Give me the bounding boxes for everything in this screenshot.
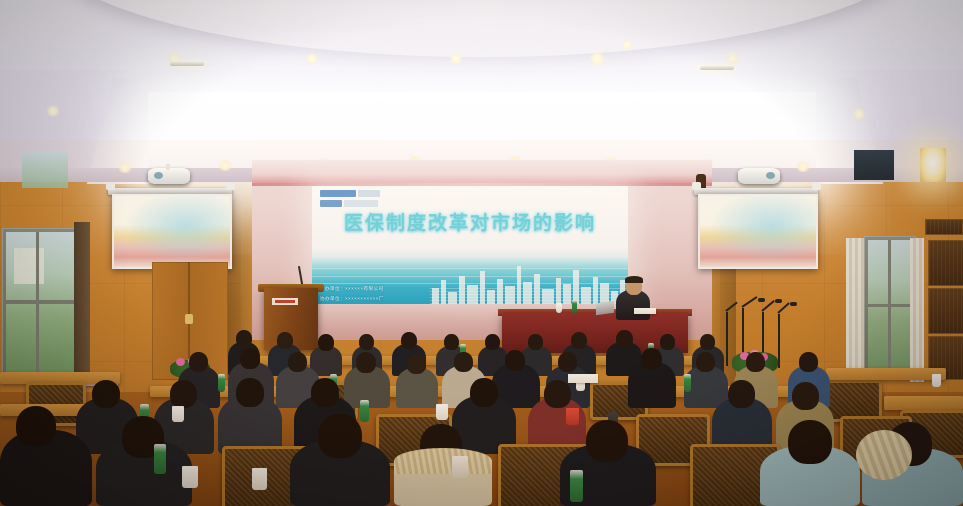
attendee — [396, 368, 438, 408]
laptop-icon — [596, 301, 614, 316]
attendee-head — [311, 378, 339, 407]
screen-bracket — [106, 182, 115, 190]
attendee-head — [356, 352, 376, 373]
screen-bracket — [812, 182, 821, 190]
fur-collar — [856, 430, 912, 480]
attendee-head — [616, 330, 633, 348]
slide-skyline-reflection — [430, 286, 626, 304]
cup — [932, 374, 941, 387]
attendee-head — [485, 334, 500, 350]
right-projection-screen — [698, 194, 818, 269]
microphone-stand — [778, 314, 780, 368]
cup — [172, 406, 184, 422]
slide-subtitle-line-2: 协办单位：×××××××××××厂 — [320, 296, 384, 302]
flower — [176, 358, 185, 366]
attendee-head — [505, 350, 525, 371]
attendee-head — [236, 330, 252, 347]
downlight-icon — [590, 52, 604, 66]
attendee-head — [544, 380, 571, 408]
attendee-head — [696, 352, 715, 372]
downlight-icon — [118, 162, 132, 173]
bottle — [684, 374, 691, 392]
left-projection-screen — [112, 194, 232, 269]
cup — [566, 408, 579, 425]
window-view-building — [14, 248, 44, 284]
downlight-icon — [47, 105, 59, 117]
speaker-hair — [625, 276, 643, 283]
screen-bracket — [226, 182, 235, 190]
attendee-head — [454, 352, 473, 372]
attendee-head — [799, 352, 818, 372]
attendee-head — [700, 334, 715, 350]
slide-subtitle-line-1: 主办单位：××××××有限公司 — [320, 286, 383, 292]
conference-hall-photo: 医保制度改革对市场的影响 主办单位：××××××有限公司 协办单位：××××××… — [0, 0, 963, 506]
cup — [452, 456, 468, 478]
downlight-icon — [306, 53, 318, 65]
slide-logo-bar — [358, 190, 380, 197]
window-mullion — [36, 232, 39, 372]
attendee-head — [407, 354, 426, 374]
attendee-head — [318, 414, 362, 458]
slide-title: 医保制度改革对市场的影响 — [312, 206, 628, 236]
microphone-stand — [726, 312, 728, 366]
attendee-head — [528, 334, 543, 350]
documents — [634, 308, 656, 314]
acoustic-panel — [928, 288, 963, 334]
upper-dark-panel — [854, 150, 894, 180]
wall-sconce-icon — [920, 148, 946, 182]
microphone-head-icon — [790, 302, 797, 306]
microphone-head-icon — [775, 299, 782, 303]
cup — [252, 468, 267, 490]
attendee-head — [240, 348, 260, 369]
acoustic-panel — [928, 240, 963, 286]
fur-collar — [394, 448, 492, 474]
downlight-icon — [853, 108, 865, 120]
screen-bracket — [692, 182, 701, 190]
attendee-head — [318, 334, 334, 351]
downlight-icon — [622, 40, 632, 50]
attendee-head — [92, 380, 120, 408]
window-mullion — [888, 240, 891, 374]
downlight-icon — [450, 53, 462, 65]
attendee-head — [788, 420, 832, 464]
cup — [436, 404, 448, 420]
window-mullion — [6, 300, 74, 304]
attendee-head — [746, 352, 765, 372]
attendee-head — [728, 380, 755, 408]
cup — [182, 466, 198, 488]
attendee-head — [444, 334, 459, 350]
projector-mount — [166, 164, 170, 170]
attendee-head — [288, 352, 307, 372]
door-handle-icon[interactable] — [185, 314, 193, 324]
window-mullion — [868, 304, 912, 307]
ceiling-slot-light — [700, 66, 734, 70]
right-curtain — [910, 238, 924, 382]
left-screen-image — [114, 196, 230, 267]
cup — [556, 303, 562, 313]
downlight-icon — [726, 52, 739, 65]
podium-nameplate — [272, 298, 298, 305]
attendee-head — [236, 378, 264, 407]
bottle — [154, 444, 166, 474]
microphone-head-icon — [758, 298, 765, 302]
attendee-head — [359, 334, 374, 350]
right-curtain — [846, 238, 864, 382]
attendee-head — [571, 332, 587, 349]
clerestory-window — [22, 152, 68, 188]
acoustic-panel — [925, 219, 963, 235]
downlight-icon — [218, 160, 232, 171]
bottle — [218, 374, 225, 392]
side-desk — [884, 396, 963, 410]
door-jamb — [74, 222, 90, 382]
audience-desk — [826, 368, 946, 380]
ceiling — [0, 0, 963, 175]
bottle — [360, 400, 369, 422]
attendee-head — [277, 332, 293, 349]
attendee-head — [660, 334, 675, 350]
attendee-head — [470, 378, 498, 407]
ceiling-slot-light — [170, 62, 204, 66]
downlight-icon — [796, 161, 810, 172]
attendee-head — [189, 352, 208, 372]
projector-lens-icon — [766, 172, 775, 179]
attendee-head — [558, 352, 577, 372]
attendee-head — [792, 382, 819, 410]
bottle — [570, 470, 583, 502]
right-screen-image — [700, 196, 816, 267]
slide-logo-bar — [320, 190, 356, 197]
attendee-head — [401, 332, 417, 349]
attendee-head — [16, 406, 56, 446]
attendee-head — [586, 420, 628, 462]
attendee-head — [641, 348, 662, 370]
bottle — [572, 300, 577, 313]
projector-lens-icon — [154, 172, 163, 179]
documents — [568, 374, 598, 383]
attendee-head — [170, 380, 197, 408]
